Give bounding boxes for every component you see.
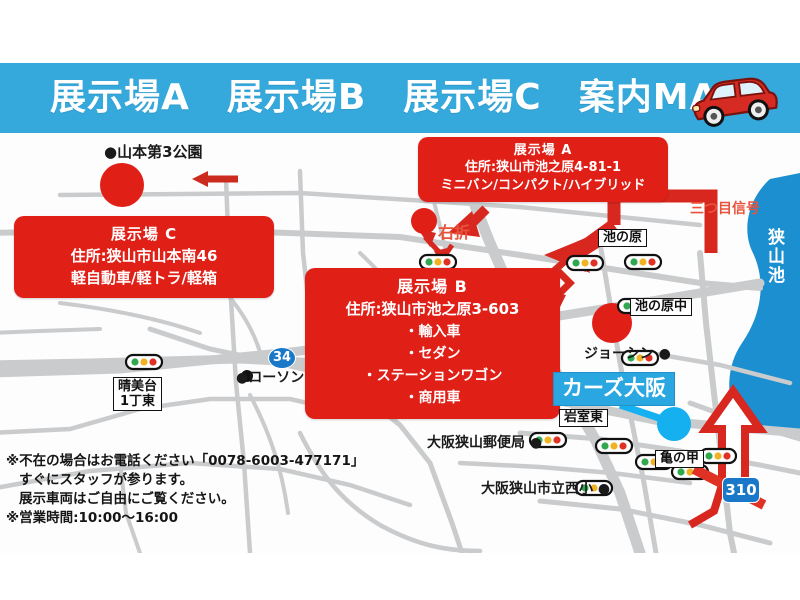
label-ikenohara: 池の原 [598, 229, 647, 247]
marker-c [100, 163, 144, 207]
callout-showroom-b[interactable]: 展示場 B 住所:狭山市池之原3-603 ・輸入車 ・セダン ・ステーションワゴ… [305, 268, 560, 419]
callout-b-address: 住所:狭山市池之原3-603 [311, 298, 554, 321]
callout-showroom-a[interactable]: 展示場 A 住所:狭山市池之原4-81-1 ミニバン/コンパクト/ハイブリッド [418, 137, 668, 202]
label-nishi-elementary: 大阪狭山市立西小 ● [481, 478, 610, 498]
label-harumidai: 晴美台 1丁東 [113, 377, 162, 411]
footer-notes: ※不在の場合はお電話ください「0078-6003-477171」 すぐにスタッフ… [6, 452, 426, 528]
label-kame-no-ko: 亀の甲 [655, 450, 704, 468]
note-line-3: 展示車両はご自由にご覧ください。 [6, 490, 426, 509]
label-cars-osaka[interactable]: カーズ大阪 [553, 372, 675, 406]
note-line-2: すぐにスタッフが参ります。 [6, 471, 426, 490]
red-car-icon [684, 72, 780, 128]
callout-b-item: ・輸入車 [311, 321, 554, 343]
label-harumidai-line1: 晴美台 [118, 379, 157, 394]
marker-a [411, 208, 437, 234]
label-post-office: 大阪狭山郵便局 ● [427, 432, 542, 452]
callout-c-address: 住所:狭山市山本南46 [20, 245, 268, 267]
callout-showroom-c[interactable]: 展示場 C 住所:狭山市山本南46 軽自動車/軽トラ/軽箱 [14, 216, 274, 298]
note-line-4: ※営業時間:10:00～16:00 [6, 509, 426, 528]
callout-c-title: 展示場 C [20, 224, 268, 245]
route-shield-310: 310 [722, 477, 760, 503]
marker-cars-osaka [657, 407, 691, 441]
page-title: 展示場A 展示場B 展示場C 案内MAP [50, 74, 670, 122]
callout-a-address: 住所:狭山市池之原4-81-1 [423, 159, 663, 177]
callout-c-kinds: 軽自動車/軽トラ/軽箱 [20, 267, 268, 289]
callout-b-item: ・セダン [311, 343, 554, 365]
label-lawson: ●ローソン [236, 367, 304, 387]
note-line-1: ※不在の場合はお電話ください「0078-6003-477171」 [6, 452, 426, 471]
label-sayama-pond: 狭山池 [764, 228, 783, 285]
callout-b-item: ・商用車 [311, 387, 554, 409]
callout-a-kinds: ミニバン/コンパクト/ハイブリッド [423, 177, 663, 195]
label-harumidai-line2: 1丁東 [120, 394, 155, 409]
callout-b-item: ・ステーションワゴン [311, 365, 554, 387]
label-iwamuro-higashi: 岩室東 [559, 409, 608, 427]
label-yamamoto-park: ●山本第3公園 [104, 141, 203, 162]
label-ikenohara-naka: 池の原中 [630, 298, 692, 316]
callout-b-title: 展示場 B [311, 276, 554, 298]
map-page: 展示場A 展示場B 展示場C 案内MAP [0, 0, 800, 600]
label-turn-right: 右折 [438, 219, 470, 243]
route-shield-34: 34 [268, 347, 296, 369]
label-joshin: ジョーシン ● [584, 343, 671, 363]
label-third-signal: 三つ目信号 [690, 198, 760, 218]
callout-a-title: 展示場 A [423, 142, 663, 159]
